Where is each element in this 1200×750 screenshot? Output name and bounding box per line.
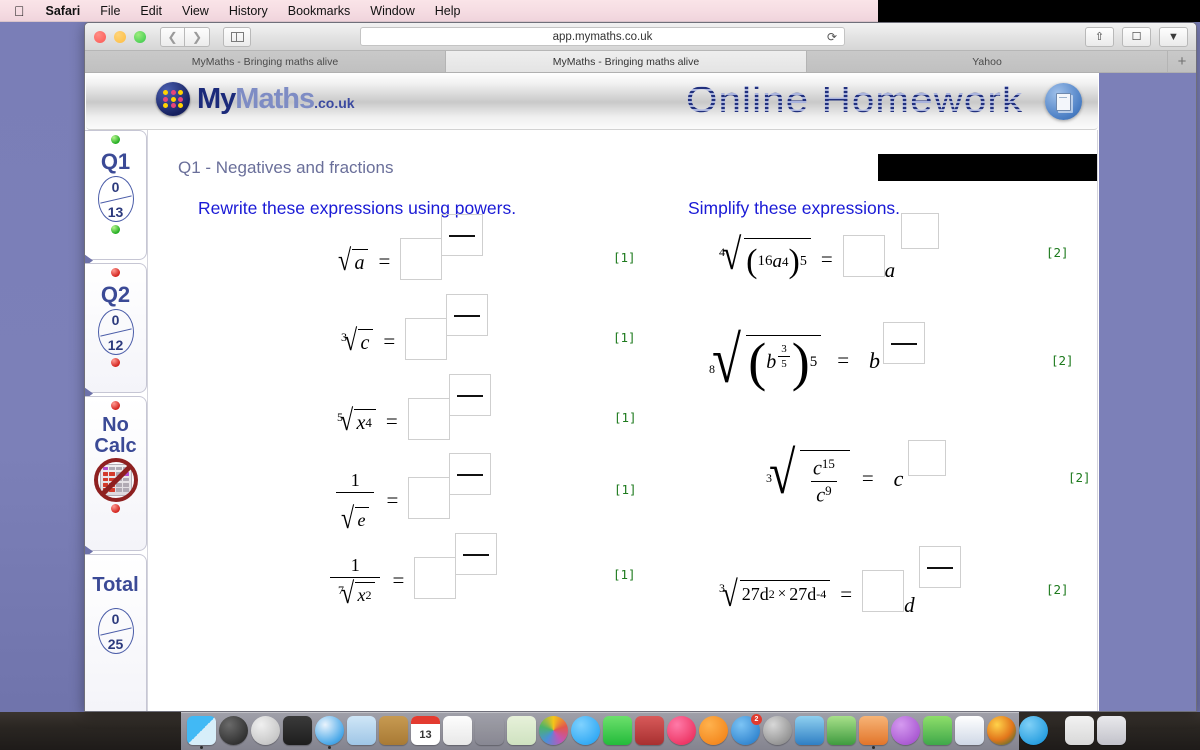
denominator-exponent: 9 [825,483,832,498]
menu-item-bookmarks[interactable]: Bookmarks [278,4,361,18]
web-page-content: MyMaths.co.uk Online Homework Q1 0 13 [85,73,1197,712]
exponent-fraction: 3 5 [778,343,790,370]
math-row-4root-16a4-pow5: 4 √ ( 16a4 )5 = a [2] [716,235,895,283]
new-tab-button[interactable]: + [1168,51,1196,72]
answer-box-coefficient-r1[interactable] [843,235,885,277]
messages-icon[interactable] [571,716,600,745]
radical-cbrt-c: 3 √ c [338,329,373,355]
wordmark-my: My [197,83,235,115]
q1-label: Q1 [101,150,130,173]
equals-sign: = [378,249,390,274]
show-tabs-icon[interactable]: ☐ [1122,27,1151,47]
answer-box-fraction-exponent-2[interactable] [446,294,488,336]
answer-box-exponent-r3[interactable] [908,440,946,476]
photos-icon[interactable] [539,716,568,745]
worksheet-area: Q1 - Negatives and fractions Rewrite the… [147,130,1098,712]
menu-item-help[interactable]: Help [425,4,471,18]
calendar-icon[interactable]: 13 [411,716,440,745]
no-calculator-icon [94,458,138,502]
address-bar-url: app.mymaths.co.uk [553,31,653,43]
sidebar-item-q2[interactable]: Q2 0 12 [85,263,147,393]
term2: 27d [789,584,816,605]
q2-status-dot-bottom [111,358,120,367]
menu-item-view[interactable]: View [172,4,219,18]
fraction-1-over-sqrt-e: 1 √ e [336,470,374,531]
itunes-icon[interactable] [667,716,696,745]
menu-item-file[interactable]: File [90,4,130,18]
math-row-cbrt-c: 3 √ c = [1] [338,318,447,365]
word-icon[interactable] [795,716,824,745]
tab-mymaths-2[interactable]: MyMaths - Bringing maths alive [446,51,807,72]
system-preferences-icon[interactable] [763,716,792,745]
answer-variable-r1: a [885,258,896,282]
q1-score-total: 13 [98,204,134,220]
radical-4root: 4 √ ( 16a4 )5 [716,238,811,281]
page-right-gutter [1099,73,1197,712]
sidebar-item-q1[interactable]: Q1 0 13 [85,130,147,260]
radicand: x [357,585,365,606]
mymaths-logo[interactable]: MyMaths.co.uk [156,82,355,116]
answer-group-2 [405,318,447,365]
sidebar-item-total: Total 0 25 [85,554,147,712]
sidebar-toggle-icon[interactable] [223,27,251,47]
marks-5: [1] [613,567,636,582]
equals-sign: = [383,329,395,354]
numerator-variable: c [813,457,822,479]
entourage-icon[interactable] [891,716,920,745]
q2-label: Q2 [101,283,130,306]
answer-group-5 [414,557,456,604]
answer-box-base-4[interactable] [408,477,450,519]
notes-icon[interactable] [475,716,504,745]
variable: a [772,251,782,273]
q2-status-dot-top [111,268,120,277]
radicand-exponent: 4 [365,415,372,431]
fraction-numerator: 1 [346,555,365,577]
dashboard-icon[interactable] [219,716,248,745]
answer-variable-r3: c [894,466,904,491]
toolbar-right-buttons: ⇧ ☐ ▼ [1085,27,1188,47]
answer-box-base-3[interactable] [408,398,450,440]
app-store-badge: 2 [751,714,762,725]
tab-yahoo[interactable]: Yahoo [807,51,1168,72]
answer-group-1 [400,238,442,285]
answer-box-coefficient-r4[interactable] [862,570,904,612]
variable: b [766,351,776,374]
trash-icon[interactable] [1097,716,1126,745]
minimize-window-button[interactable] [114,31,126,43]
forward-button[interactable]: ❯ [185,27,210,47]
radical-sqrt-a: √ a [338,249,368,275]
safari-window: ❮ ❯ app.mymaths.co.uk ⟳ ⇧ ☐ ▼ MyMaths - … [84,22,1197,712]
total-score-achieved: 0 [98,611,134,627]
numerator-exponent: 15 [822,456,835,471]
fraction-numerator: 1 [346,470,365,492]
menu-bar-status-redaction [878,0,1200,22]
menu-item-window[interactable]: Window [360,4,424,18]
answer-group-4 [408,477,450,524]
equals-sign: = [386,409,398,434]
outer-exponent: 5 [810,354,818,371]
encarta-icon[interactable] [955,716,984,745]
math-row-cbrt-c15-over-c9: 3 √ c15 c9 = c [2] [763,450,903,508]
equals-sign: = [837,348,849,373]
radicand: e [357,510,365,531]
photobooth-icon[interactable] [635,716,664,745]
student-name-redaction-bar [878,154,1098,181]
messenger-icon[interactable] [923,716,952,745]
equals-sign: = [840,582,852,607]
calculator-icon[interactable] [1065,716,1094,745]
radical-index: 4 [719,246,725,258]
radical-7root-x2: 7 √ x2 [335,582,375,606]
equals-sign: = [392,568,404,593]
answer-box-base-5[interactable] [414,557,456,599]
mail-icon[interactable] [347,716,376,745]
total-score: 0 25 [98,608,134,654]
answer-group-r2: b [869,348,880,374]
nocalc-status-dot-bottom [111,504,120,513]
term1: 27d [742,584,769,605]
radical-cbrt-product: 3 √ 27d2 ×27d-4 [716,580,830,608]
answer-box-fraction-exponent-r4[interactable] [919,546,961,588]
answer-box-base-1[interactable] [400,238,442,280]
math-row-sqrt-a: √ a = [1] [338,238,442,285]
equals-sign: = [862,466,874,491]
radicand: a [354,252,364,275]
denominator-variable: c [816,485,825,507]
answer-box-fraction-exponent-5[interactable] [455,533,497,575]
downloads-icon[interactable]: ▼ [1159,27,1188,47]
nocalc-label-line1: No [102,415,129,436]
back-button[interactable]: ❮ [160,27,185,47]
math-row-5root-x4: 5 √ x4 = [1] [334,398,450,445]
sidebar-item-no-calculator[interactable]: No Calc [85,396,147,551]
tab-bar: MyMaths - Bringing maths alive MyMaths -… [85,51,1196,73]
radical-index: 5 [337,411,343,423]
reload-icon[interactable]: ⟳ [827,30,837,44]
answer-box-fraction-exponent-3[interactable] [449,374,491,416]
radicand-exponent: 2 [365,588,371,603]
contacts-icon[interactable] [379,716,408,745]
marks-1: [1] [613,250,636,265]
mission-control-icon[interactable] [283,716,312,745]
finder-icon[interactable] [187,716,216,745]
q1-status-dot-bottom [111,225,120,234]
apple-logo-icon[interactable]:  [0,4,36,18]
homework-pages-icon [1045,83,1082,120]
marks-3: [1] [614,410,637,425]
math-row-1-over-7root-x2: 1 7 √ x2 = [1] [328,555,456,606]
navigation-buttons: ❮ ❯ [160,27,210,47]
window-controls[interactable] [94,31,146,43]
browser-toolbar: ❮ ❯ app.mymaths.co.uk ⟳ ⇧ ☐ ▼ [85,23,1196,51]
safari-icon[interactable] [315,716,344,745]
mymaths-site-header: MyMaths.co.uk Online Homework [86,73,1098,130]
mymaths-wordmark: MyMaths.co.uk [197,85,355,114]
radical-8root: 8 √ ( b 3 5 )5 [706,335,821,386]
macos-menu-bar:  Safari File Edit View History Bookmark… [0,0,1200,22]
equals-sign: = [821,247,833,272]
nocalc-label-line2: Calc [94,436,136,457]
launchpad-icon[interactable] [251,716,280,745]
term1-exponent: 2 [769,587,775,602]
exponent-numerator: 3 [778,343,790,356]
radical-sqrt-e: √ e [341,507,369,531]
marks-r3: [2] [1068,470,1091,485]
answer-group-r4: d [862,570,915,618]
q2-score-total: 12 [98,337,134,353]
close-window-button[interactable] [94,31,106,43]
question-title: Q1 - Negatives and fractions [178,158,393,178]
radical-cbrt-fraction: 3 √ c15 c9 [763,450,850,508]
answer-variable-r4: d [904,593,915,617]
answer-box-fraction-exponent-1[interactable] [441,214,483,256]
radical-index: 3 [719,582,725,594]
q1-status-dot-top [111,135,120,144]
radicand: x [356,412,365,435]
q2-score-achieved: 0 [98,312,134,328]
q1-score: 0 13 [98,176,134,222]
multiplication-sign: × [778,586,786,603]
wordmark-domain: .co.uk [314,95,354,111]
answer-box-exponent-r1[interactable] [901,213,939,249]
marks-4: [1] [614,482,637,497]
math-row-8root-b35-pow5: 8 √ ( b 3 5 )5 = b [2] [706,335,880,386]
online-homework-title: Online Homework [686,79,1023,121]
right-column-heading: Simplify these expressions. [688,198,900,219]
powerpoint-icon[interactable] [859,716,888,745]
equals-sign: = [386,488,398,513]
mymaths-dots-logo-icon [156,82,190,116]
q2-score: 0 12 [98,309,134,355]
macos-dock: 13 2 [181,712,1019,750]
wordmark-maths: Maths [235,83,314,115]
marks-r4: [2] [1046,582,1069,597]
radical-index: 3 [341,331,347,343]
marks-r1: [2] [1046,245,1069,260]
menu-item-safari[interactable]: Safari [36,4,91,18]
skype-icon[interactable] [1019,716,1048,745]
fraction-1-over-7root-x2: 1 7 √ x2 [330,555,380,606]
nocalc-status-dot-top [111,401,120,410]
radical-index: 8 [709,363,715,375]
answer-group-r3: c [894,466,904,492]
marks-r2: [2] [1051,353,1074,368]
reminders-icon[interactable] [443,716,472,745]
app-store-icon[interactable]: 2 [731,716,760,745]
math-row-cbrt-27d2-27dm4: 3 √ 27d2 ×27d-4 = d [2] [716,570,915,618]
radical-5root-x4: 5 √ x4 [334,409,376,435]
answer-group-r1: a [843,235,896,283]
address-bar[interactable]: app.mymaths.co.uk ⟳ [360,27,845,46]
answer-group-3 [408,398,450,445]
radical-index: 7 [338,584,344,596]
question-navigation-sidebar: Q1 0 13 Q2 0 12 [85,130,147,712]
coefficient: 16 [757,253,772,270]
zoom-window-button[interactable] [134,31,146,43]
answer-box-fraction-exponent-r2[interactable] [883,322,925,364]
answer-box-base-2[interactable] [405,318,447,360]
marks-2: [1] [613,330,636,345]
facetime-icon[interactable] [603,716,632,745]
calendar-day: 13 [411,724,440,745]
exponent-denominator: 5 [778,356,790,370]
tab-mymaths-1[interactable]: MyMaths - Bringing maths alive [85,51,446,72]
term2-exponent: -4 [816,587,826,602]
share-icon[interactable]: ⇧ [1085,27,1114,47]
radicand: c [360,332,369,355]
outer-exponent: 5 [800,254,807,270]
excel-icon[interactable] [827,716,856,745]
total-score-total: 25 [98,636,134,652]
menu-item-history[interactable]: History [219,4,278,18]
inner-fraction: c15 c9 [808,456,840,508]
radical-index: 3 [766,472,772,484]
math-row-1-over-sqrt-e: 1 √ e = [1] [334,470,450,531]
firefox-icon[interactable] [987,716,1016,745]
ibooks-icon[interactable] [699,716,728,745]
maps-icon[interactable] [507,716,536,745]
q1-score-achieved: 0 [98,179,134,195]
menu-item-edit[interactable]: Edit [130,4,172,18]
answer-variable-r2: b [869,348,880,373]
total-label: Total [92,575,138,596]
answer-box-fraction-exponent-4[interactable] [449,453,491,495]
